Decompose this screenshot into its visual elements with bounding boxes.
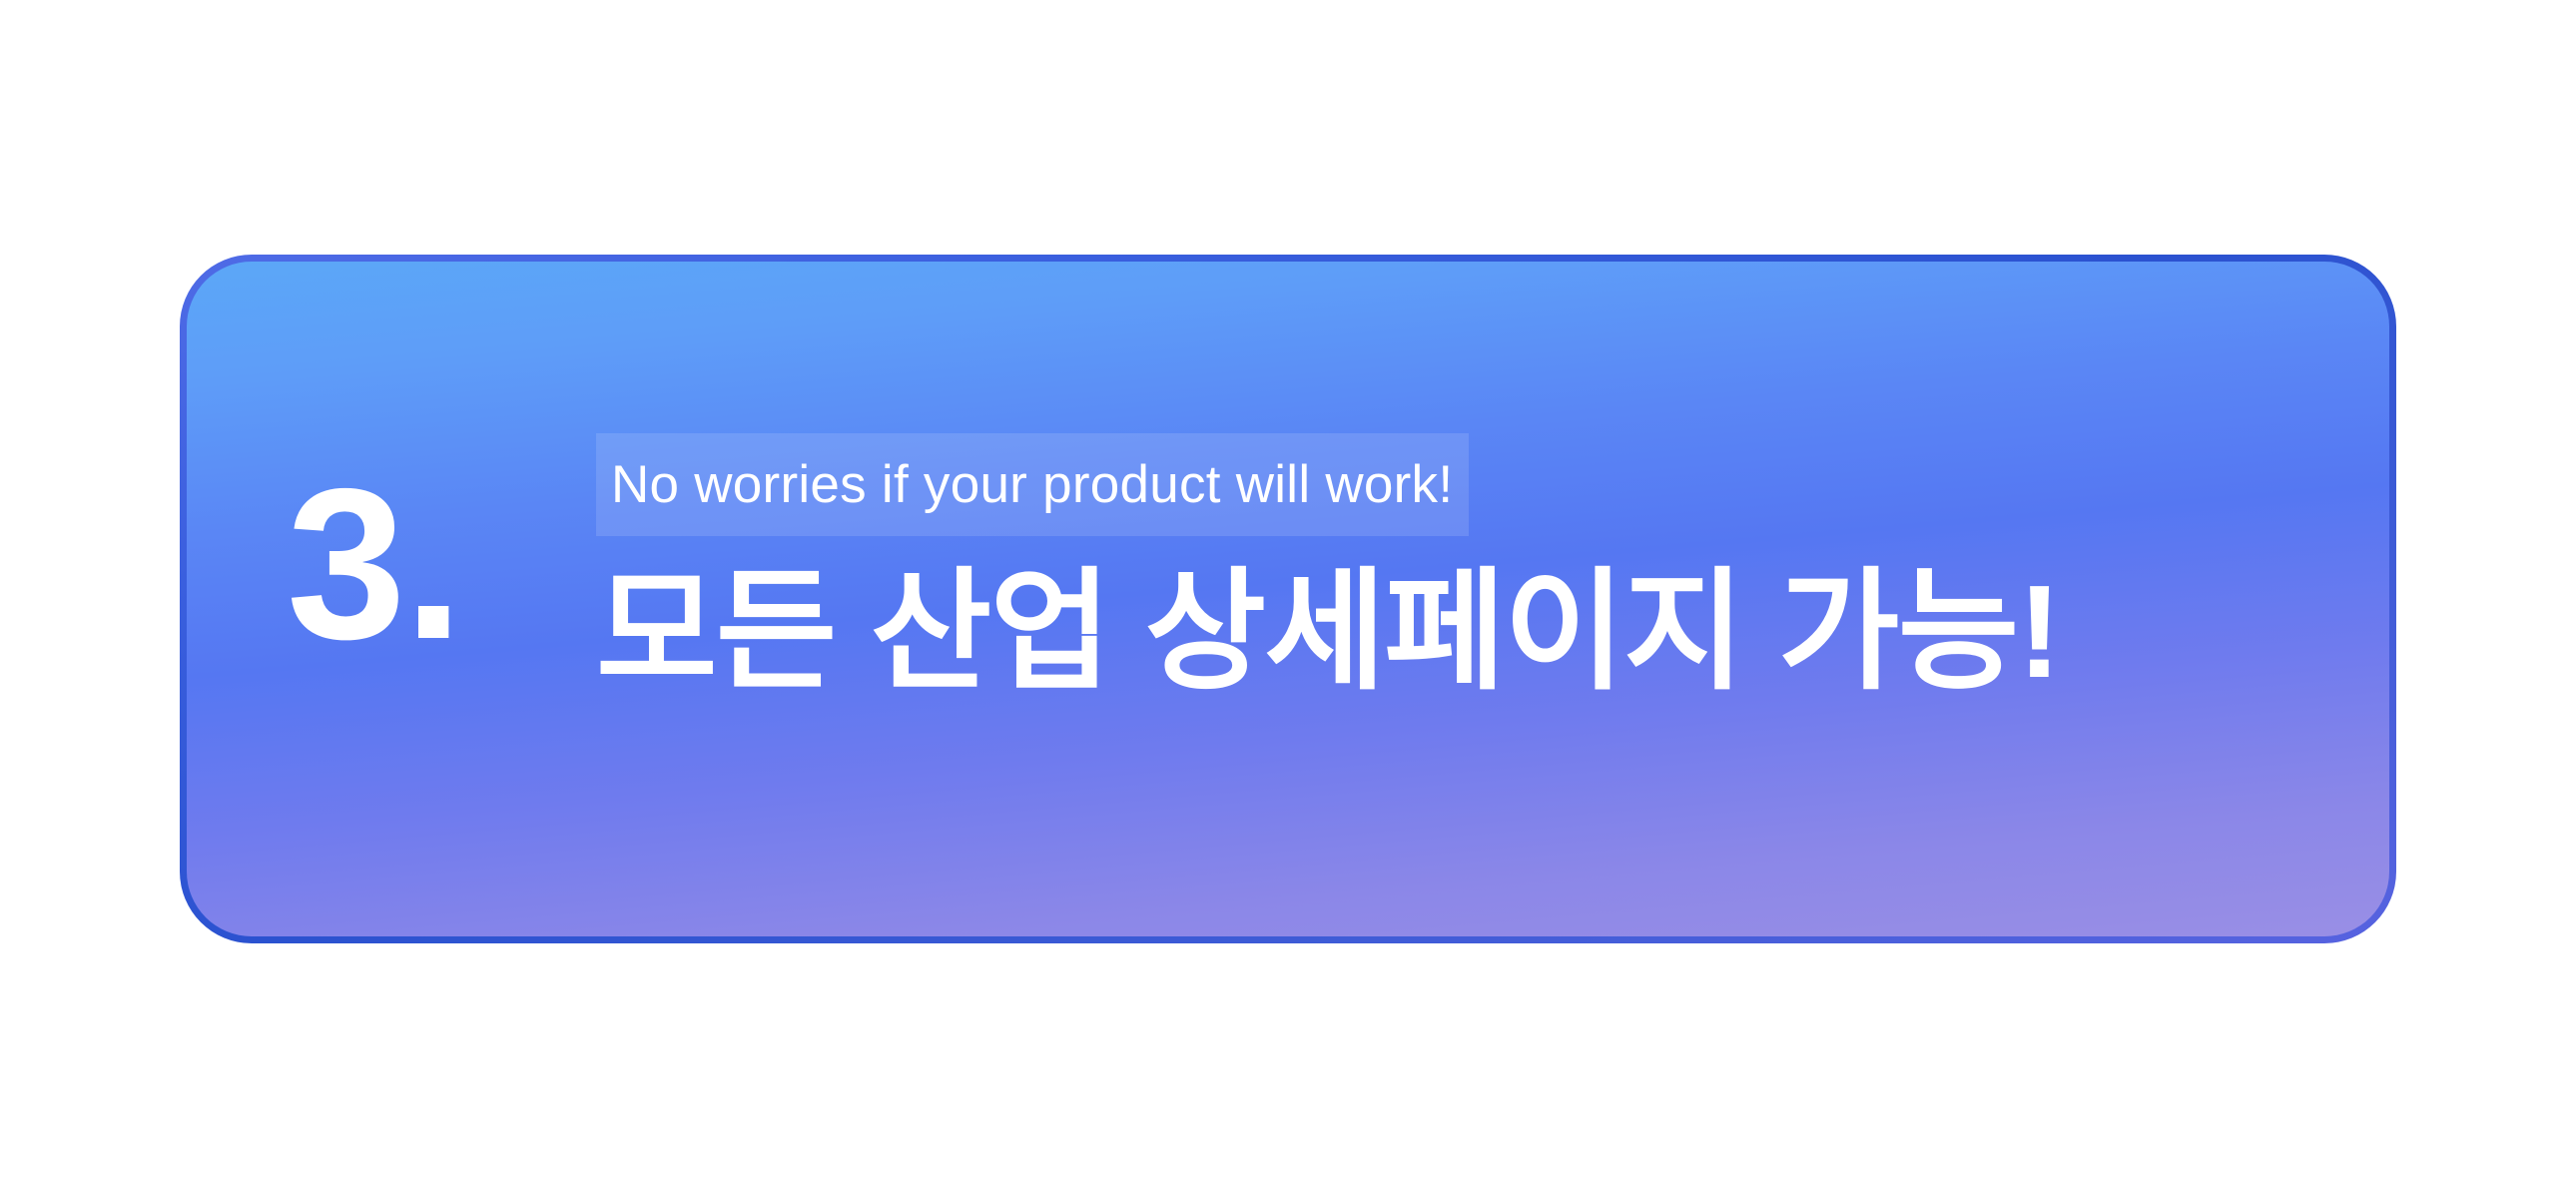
feature-card: 3. No worries if your product will work!…	[180, 255, 2396, 943]
card-subtitle: No worries if your product will work!	[596, 433, 1469, 536]
page-canvas: 3. No worries if your product will work!…	[0, 0, 2576, 1180]
subtitle-row: No worries if your product will work!	[596, 433, 1469, 536]
card-headline: 모든 산업 상세페이지 가능!	[596, 558, 2293, 706]
step-number: 3.	[287, 456, 461, 671]
card-text-column: No worries if your product will work! 모든…	[596, 433, 2293, 706]
feature-card-surface: 3. No worries if your product will work!…	[187, 262, 2389, 936]
